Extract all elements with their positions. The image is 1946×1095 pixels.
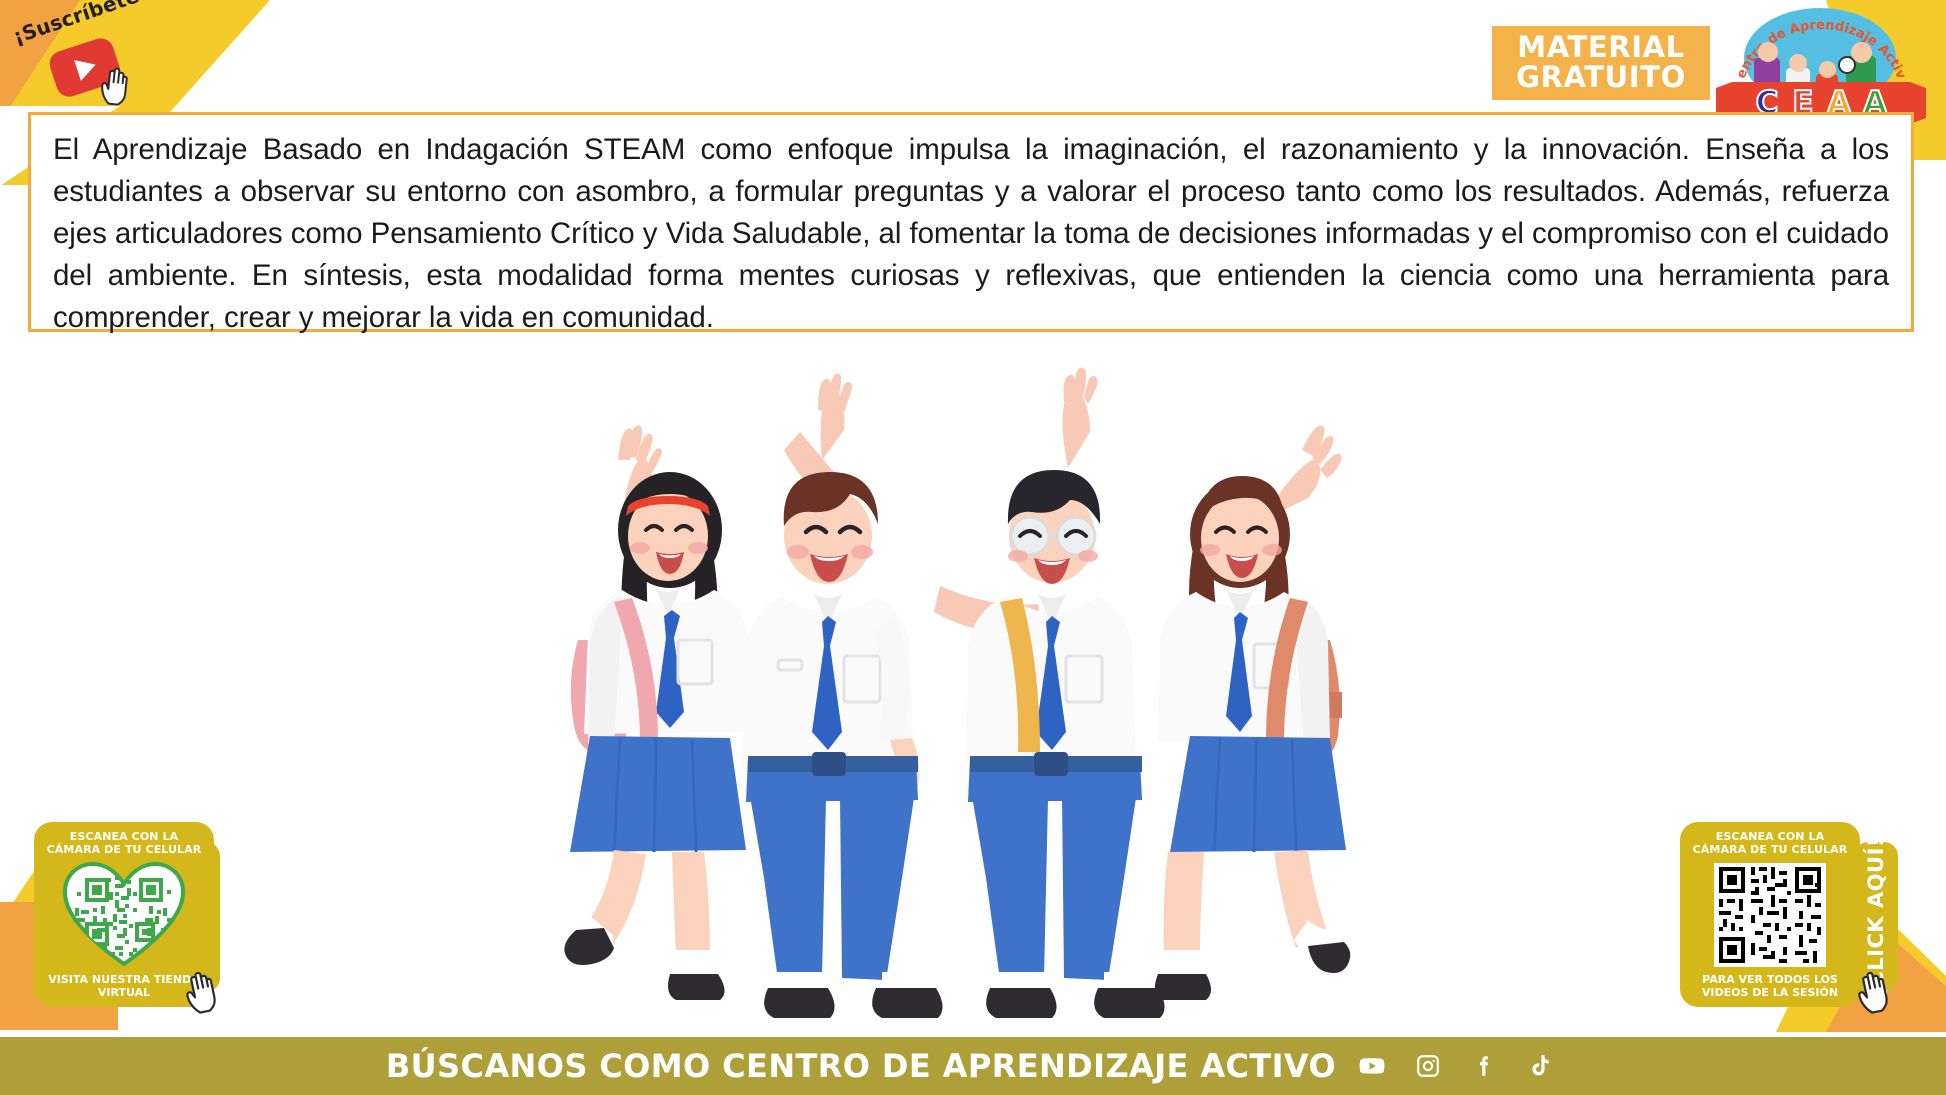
qr-right-caption-line1: ESCANEA CON LA xyxy=(1716,830,1824,843)
qr-left-footer-line2: VIRTUAL xyxy=(98,986,150,999)
students-illustration xyxy=(560,340,1380,1030)
facebook-icon[interactable] xyxy=(1464,1046,1504,1086)
footer-text: BÚSCANOS COMO CENTRO DE APRENDIZAJE ACTI… xyxy=(386,1047,1336,1085)
qr-right-code-box[interactable] xyxy=(1686,856,1854,973)
footer-bar: BÚSCANOS COMO CENTRO DE APRENDIZAJE ACTI… xyxy=(0,1037,1946,1095)
material-badge-line1: MATERIAL xyxy=(1517,33,1685,63)
pointing-hand-cursor-icon xyxy=(96,64,134,107)
free-material-badge: MATERIAL GRATUITO xyxy=(1492,26,1710,100)
slide-canvas: ¡Suscríbete! MATERIAL GRATUITO Centro de… xyxy=(0,0,1946,1095)
square-qr-code xyxy=(1714,863,1826,967)
material-badge-line2: GRATUITO xyxy=(1516,63,1686,93)
ceaa-logo: Centro de Aprendizaje Activo C E A A xyxy=(1716,8,1926,124)
qr-right-footer-line2: VIDEOS DE LA SESIÓN xyxy=(1702,986,1838,999)
qr-card-videos[interactable]: ESCANEA CON LA CÁMARA DE TU CELULAR xyxy=(1680,822,1860,1007)
content-paragraph: El Aprendizaje Basado en Indagación STEA… xyxy=(53,129,1889,339)
subscribe-cta[interactable]: ¡Suscríbete! xyxy=(6,8,246,128)
qr-right-footer-line1: PARA VER TODOS LOS xyxy=(1702,973,1838,986)
qr-right-caption-line2: CÁMARA DE TU CELULAR xyxy=(1693,843,1848,856)
youtube-icon[interactable] xyxy=(1352,1046,1392,1086)
qr-left-caption-line1: ESCANEA CON LA xyxy=(70,830,178,843)
qr-left-caption-line2: CÁMARA DE TU CELULAR xyxy=(47,843,202,856)
subscribe-label: ¡Suscríbete! xyxy=(10,0,151,49)
instagram-icon[interactable] xyxy=(1408,1046,1448,1086)
content-text-card: El Aprendizaje Basado en Indagación STEA… xyxy=(28,112,1914,332)
soccer-ball-icon xyxy=(1838,56,1856,74)
qr-left-code-box[interactable] xyxy=(40,856,208,973)
heart-qr-code xyxy=(63,862,185,967)
tiktok-icon[interactable] xyxy=(1520,1046,1560,1086)
